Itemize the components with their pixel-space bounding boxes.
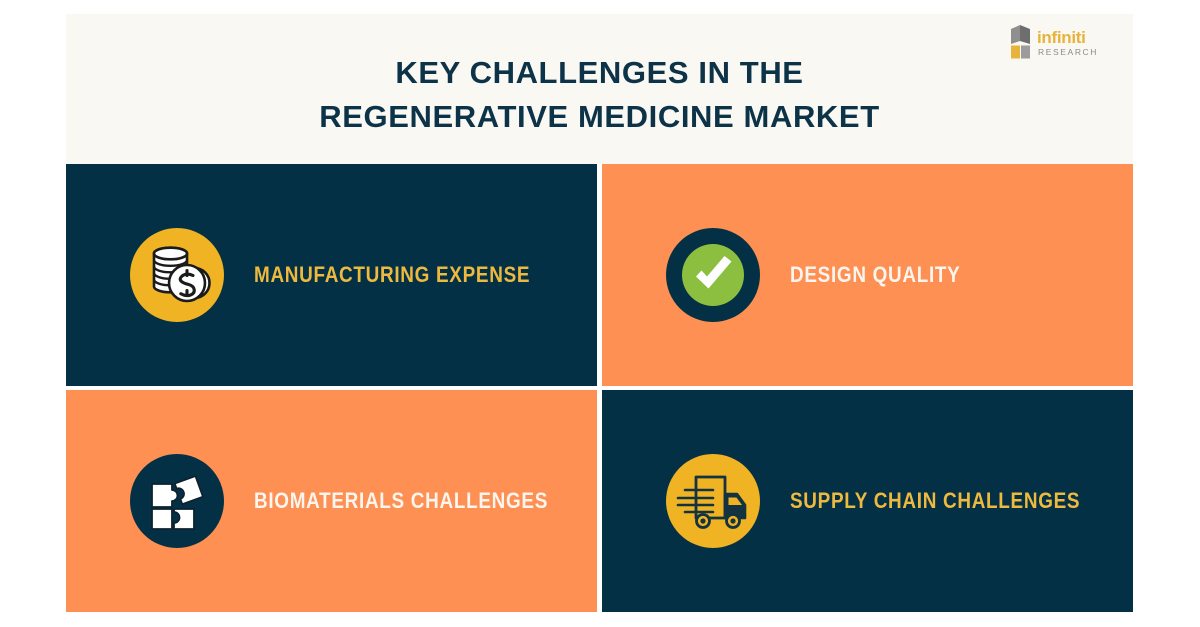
- infiniti-blocks-logo-icon: infiniti RESEARCH: [1009, 22, 1121, 62]
- puzzle-pieces-icon: [130, 454, 224, 548]
- quadrant-label-supply-chain-challenges: SUPPLY CHAIN CHALLENGES: [790, 489, 1080, 513]
- check-circle-icon: [666, 228, 760, 322]
- quadrant-manufacturing-expense[interactable]: MANUFACTURING EXPENSE: [66, 164, 597, 386]
- header-bar: KEY CHALLENGES IN THE REGENERATIVE MEDIC…: [66, 14, 1133, 164]
- coins-stack-dollar-icon: [130, 228, 224, 322]
- challenges-grid: MANUFACTURING EXPENSE DESIGN QUALITY: [66, 164, 1133, 612]
- quadrant-label-design-quality: DESIGN QUALITY: [790, 263, 960, 287]
- title-line-2: REGENERATIVE MEDICINE MARKET: [319, 95, 879, 139]
- svg-text:RESEARCH: RESEARCH: [1038, 47, 1098, 57]
- quadrant-design-quality[interactable]: DESIGN QUALITY: [602, 164, 1133, 386]
- quadrant-biomaterials-challenges[interactable]: BIOMATERIALS CHALLENGES: [66, 390, 597, 612]
- quadrant-supply-chain-challenges[interactable]: SUPPLY CHAIN CHALLENGES: [602, 390, 1133, 612]
- svg-text:infiniti: infiniti: [1037, 28, 1086, 47]
- delivery-truck-icon: [666, 454, 760, 548]
- title-line-1: KEY CHALLENGES IN THE: [395, 51, 803, 95]
- quadrant-label-manufacturing-expense: MANUFACTURING EXPENSE: [254, 263, 530, 287]
- quadrant-label-biomaterials-challenges: BIOMATERIALS CHALLENGES: [254, 489, 548, 513]
- brand-logo: infiniti RESEARCH: [1009, 22, 1121, 62]
- infographic-canvas: KEY CHALLENGES IN THE REGENERATIVE MEDIC…: [66, 14, 1133, 612]
- page-title: KEY CHALLENGES IN THE REGENERATIVE MEDIC…: [66, 14, 1133, 164]
